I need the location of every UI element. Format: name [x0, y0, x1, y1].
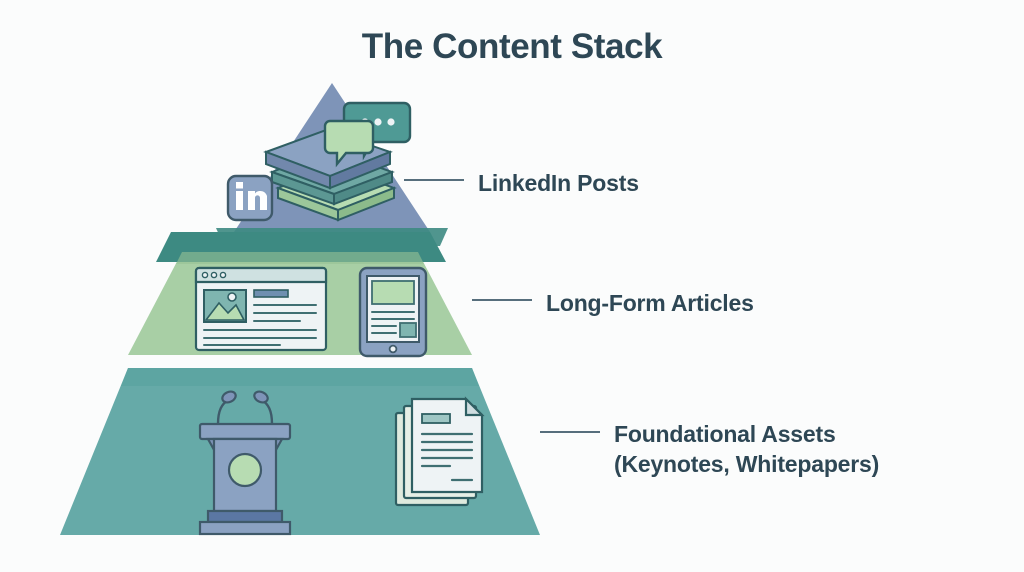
tier-bottom[interactable]	[60, 368, 540, 535]
tablet-icon	[360, 268, 426, 356]
label-foundational-assets-line1: Foundational Assets	[614, 421, 836, 447]
linkedin-badge-icon[interactable]	[228, 176, 272, 220]
label-foundational-assets-line2: (Keynotes, Whitepapers)	[614, 449, 879, 479]
tier-middle[interactable]	[128, 232, 472, 356]
infographic-canvas: The Content Stack	[0, 0, 1024, 572]
tier-top[interactable]	[216, 83, 448, 246]
label-foundational-assets: Foundational Assets (Keynotes, Whitepape…	[614, 419, 879, 480]
label-long-form-articles: Long-Form Articles	[546, 288, 754, 318]
label-linkedin-posts: LinkedIn Posts	[478, 168, 639, 198]
browser-window-icon	[196, 268, 326, 350]
documents-stack-icon	[396, 399, 482, 505]
pyramid-diagram	[0, 0, 1024, 572]
